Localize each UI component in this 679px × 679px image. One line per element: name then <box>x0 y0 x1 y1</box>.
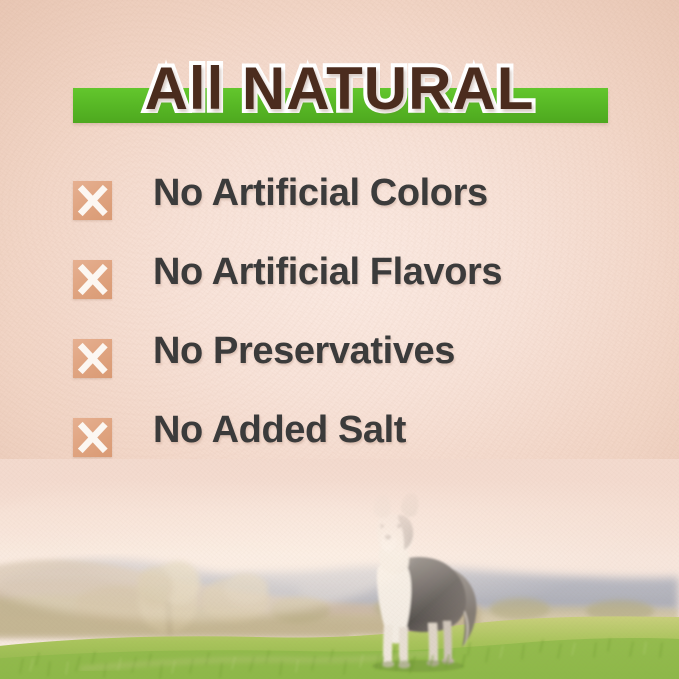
claim-item-no-artificial-colors: No Artificial Colors <box>0 181 679 260</box>
x-mark-icon <box>73 339 112 378</box>
claim-label: No Artificial Flavors <box>153 251 502 294</box>
page-title: All NATURAL <box>0 52 679 126</box>
dog-landscape-photo <box>0 459 679 679</box>
all-natural-promo-poster: All NATURAL No Artificial Colors No Arti… <box>0 0 679 679</box>
claim-item-no-artificial-flavors: No Artificial Flavors <box>0 260 679 339</box>
landscape-illustration <box>0 459 679 679</box>
claim-label: No Artificial Colors <box>153 172 488 215</box>
title-block: All NATURAL <box>0 52 679 140</box>
claims-list: No Artificial Colors No Artificial Flavo… <box>0 181 679 497</box>
claim-label: No Preservatives <box>153 330 455 373</box>
x-mark-icon <box>73 260 112 299</box>
x-mark-icon <box>73 181 112 220</box>
claim-item-no-preservatives: No Preservatives <box>0 339 679 418</box>
x-mark-icon <box>73 418 112 457</box>
claim-label: No Added Salt <box>153 409 406 452</box>
